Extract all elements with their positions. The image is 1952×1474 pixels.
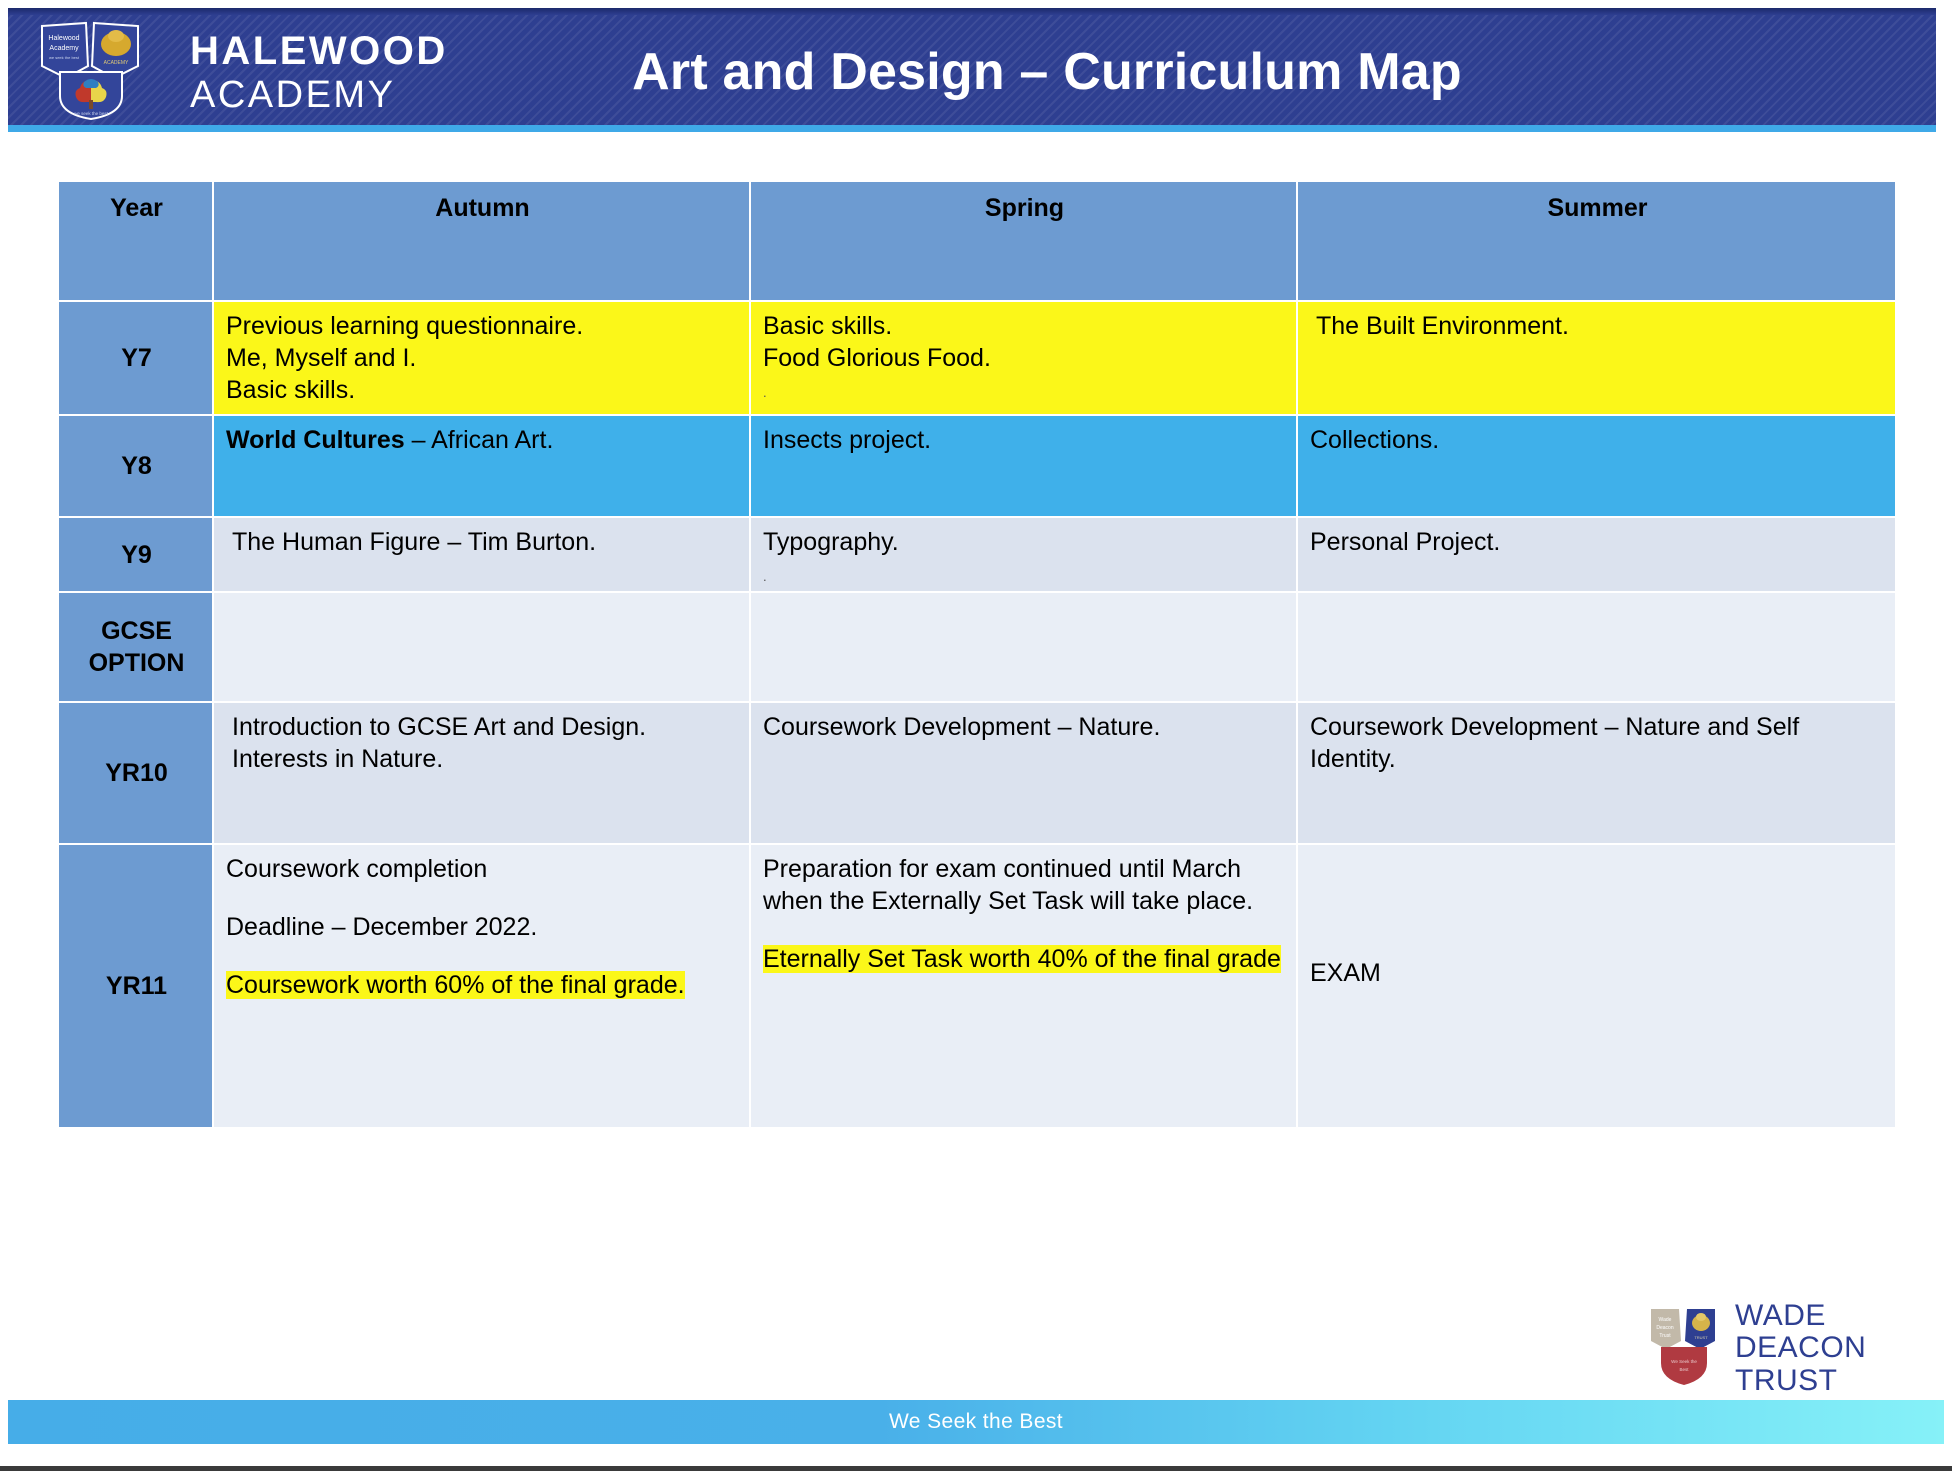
column-header-summer: Summer <box>1298 182 1895 300</box>
footer-tagline: We Seek the Best <box>889 1410 1063 1434</box>
table-header-row: Year Autumn Spring Summer <box>59 182 1895 300</box>
year-label-yr11: YR11 <box>59 845 212 1127</box>
header-banner: Halewood Academy we seek the best ACADEM… <box>8 8 1936 132</box>
cell-yr10-summer: Coursework Development – Nature and Self… <box>1298 703 1895 843</box>
cell-line: The Built Environment. <box>1316 310 1885 342</box>
stray-period: . <box>763 570 1286 583</box>
cell-y8-autumn: World Cultures – African Art. <box>214 416 749 516</box>
cell-line: Insects project. <box>763 424 1286 456</box>
cell-line: Basic skills. <box>763 310 1286 342</box>
year-label-y7: Y7 <box>59 302 212 414</box>
curriculum-map-table: Year Autumn Spring Summer Y7 Previous le… <box>57 180 1897 1129</box>
cell-line: Coursework completion <box>226 853 739 885</box>
cell-gcse-spring <box>751 593 1296 701</box>
year-label-yr10: YR10 <box>59 703 212 843</box>
cell-y9-autumn: The Human Figure – Tim Burton. <box>214 518 749 591</box>
table-row-y8: Y8 World Cultures – African Art. Insects… <box>59 416 1895 516</box>
cell-line: Collections. <box>1310 424 1885 456</box>
svg-text:we seek the best: we seek the best <box>74 111 109 116</box>
cell-y7-summer: The Built Environment. <box>1298 302 1895 414</box>
cell-line: Typography. <box>763 526 1286 558</box>
table-row-y9: Y9 The Human Figure – Tim Burton. Typogr… <box>59 518 1895 591</box>
cell-gcse-summer <box>1298 593 1895 701</box>
cell-line-highlighted: Eternally Set Task worth 40% of the fina… <box>763 943 1286 975</box>
trust-line-2: TRUST <box>1735 1365 1952 1397</box>
cell-line: Coursework Development – Nature. <box>763 711 1286 743</box>
column-header-spring: Spring <box>751 182 1296 300</box>
cell-text-regular: – African Art. <box>405 426 554 454</box>
cell-yr10-spring: Coursework Development – Nature. <box>751 703 1296 843</box>
svg-text:Best: Best <box>1679 1367 1689 1372</box>
spacer <box>226 943 739 969</box>
highlighted-text: Eternally Set Task worth 40% of the fina… <box>763 945 1281 973</box>
year-label-line-2: OPTION <box>71 647 202 679</box>
cell-line: Previous learning questionnaire. <box>226 310 739 342</box>
cell-text-bold: World Cultures <box>226 426 405 454</box>
trust-name: WADE DEACON TRUST <box>1735 1300 1952 1397</box>
spacer <box>763 917 1286 943</box>
wade-deacon-trust-crest-icon: Wade Deacon Trust TRUST We Seek the Best <box>1645 1305 1723 1392</box>
cell-line: Deadline – December 2022. <box>226 911 739 943</box>
cell-line: The Human Figure – Tim Burton. <box>232 526 739 558</box>
cell-y8-spring: Insects project. <box>751 416 1296 516</box>
column-header-autumn: Autumn <box>214 182 749 300</box>
highlighted-text: Coursework worth 60% of the final grade. <box>226 971 685 999</box>
cell-gcse-autumn <box>214 593 749 701</box>
footer-rule <box>0 1466 1952 1471</box>
year-label-y8: Y8 <box>59 416 212 516</box>
column-header-year: Year <box>59 182 212 300</box>
page-title: Art and Design – Curriculum Map <box>8 42 1936 102</box>
year-label-gcse-option: GCSE OPTION <box>59 593 212 701</box>
cell-line: Introduction to GCSE Art and Design. <box>232 711 739 743</box>
cell-line: Coursework Development – Nature and Self… <box>1310 711 1885 775</box>
year-label-line-1: GCSE <box>71 615 202 647</box>
footer-bar: We Seek the Best <box>8 1400 1944 1444</box>
table-row-gcse-option: GCSE OPTION <box>59 593 1895 701</box>
table-row-yr10: YR10 Introduction to GCSE Art and Design… <box>59 703 1895 843</box>
cell-y7-autumn: Previous learning questionnaire. Me, Mys… <box>214 302 749 414</box>
cell-yr11-spring: Preparation for exam continued until Mar… <box>751 845 1296 1127</box>
svg-text:Deacon: Deacon <box>1656 1325 1673 1331</box>
svg-text:Trust: Trust <box>1659 1333 1671 1339</box>
svg-text:Wade: Wade <box>1659 1317 1672 1323</box>
year-label-y9: Y9 <box>59 518 212 591</box>
cell-line: Basic skills. <box>226 374 739 406</box>
trust-line-1: WADE DEACON <box>1735 1300 1952 1365</box>
cell-line: Preparation for exam continued until Mar… <box>763 853 1286 917</box>
cell-yr10-autumn: Introduction to GCSE Art and Design. Int… <box>214 703 749 843</box>
cell-yr11-summer: EXAM <box>1298 845 1895 1127</box>
wade-deacon-trust-logo: Wade Deacon Trust TRUST We Seek the Best… <box>1645 1300 1952 1397</box>
cell-y9-spring: Typography. . <box>751 518 1296 591</box>
table-row-yr11: YR11 Coursework completion Deadline – De… <box>59 845 1895 1127</box>
cell-line-highlighted: Coursework worth 60% of the final grade. <box>226 969 739 1001</box>
cell-yr11-autumn: Coursework completion Deadline – Decembe… <box>214 845 749 1127</box>
cell-y8-summer: Collections. <box>1298 416 1895 516</box>
svg-text:Halewood: Halewood <box>48 35 79 42</box>
cell-line: Food Glorious Food. <box>763 342 1286 374</box>
svg-text:We Seek the: We Seek the <box>1671 1359 1697 1364</box>
cell-line: Interests in Nature. <box>232 743 739 775</box>
table-row-y7: Y7 Previous learning questionnaire. Me, … <box>59 302 1895 414</box>
header-top-shade <box>8 8 1936 15</box>
cell-y9-summer: Personal Project. <box>1298 518 1895 591</box>
cell-y7-spring: Basic skills. Food Glorious Food. . <box>751 302 1296 414</box>
cell-line: World Cultures – African Art. <box>226 424 739 456</box>
spacer <box>226 885 739 911</box>
svg-text:TRUST: TRUST <box>1694 1335 1708 1340</box>
cell-line: Personal Project. <box>1310 526 1885 558</box>
cell-line: Me, Myself and I. <box>226 342 739 374</box>
cell-line: EXAM <box>1310 957 1885 989</box>
stray-period: . <box>763 386 1286 399</box>
